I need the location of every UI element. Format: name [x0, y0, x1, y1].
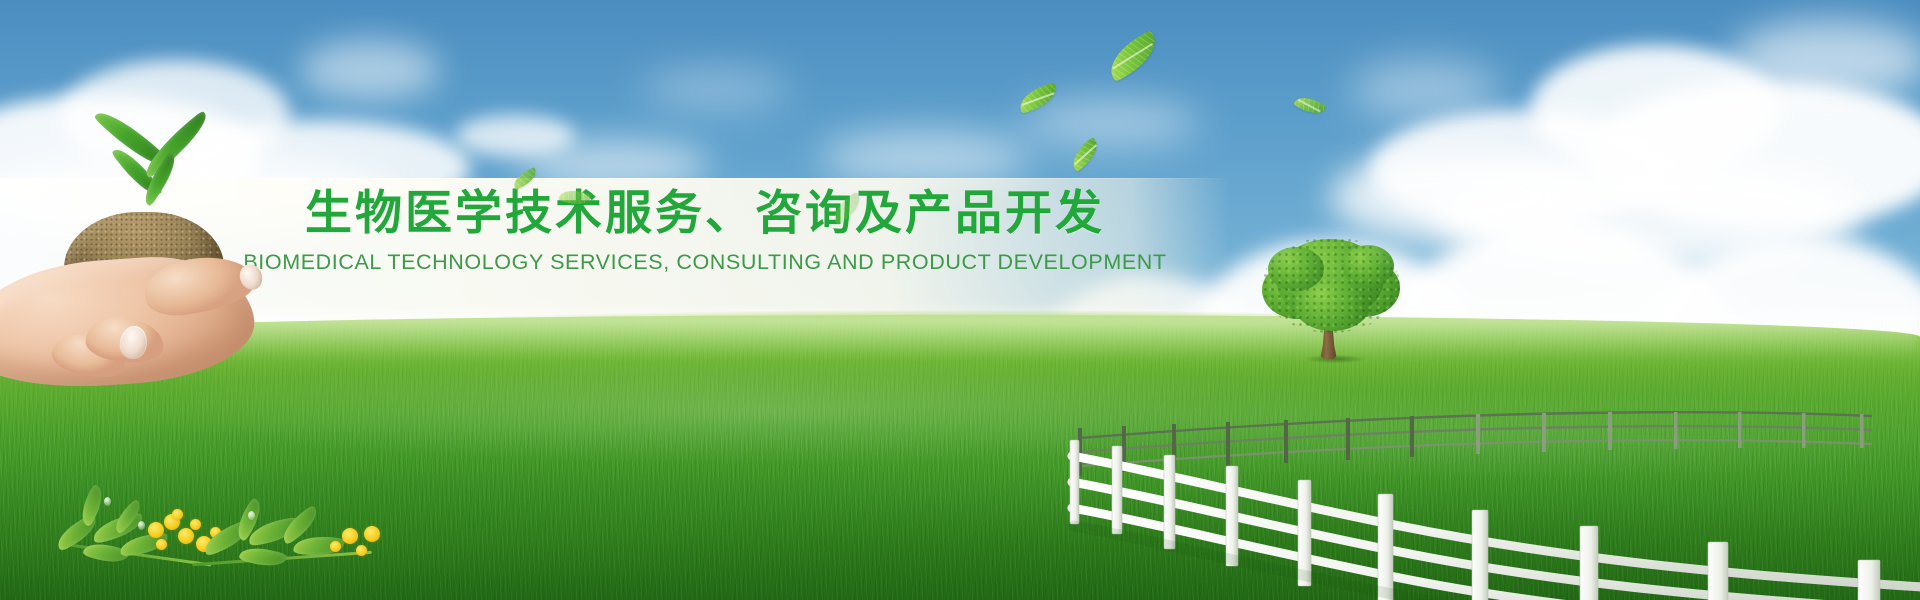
fence-icon [1060, 330, 1920, 600]
flower-icon [342, 528, 358, 544]
dew-drop [248, 511, 255, 520]
flower-icon [172, 509, 183, 520]
flower-icon [330, 541, 341, 552]
flower-icon [190, 519, 201, 530]
dew-drop [138, 521, 145, 530]
fence-far-segment [1078, 412, 1872, 476]
flower-icon [364, 526, 380, 542]
leaf-icon [238, 542, 287, 572]
hero-banner: 生物医学技术服务、咨询及产品开发 BIOMEDICAL TECHNOLOGY S… [0, 0, 1920, 600]
hand-sprout-icon [0, 150, 294, 390]
tree-canopy-texture [1262, 237, 1400, 333]
flower-icon [356, 545, 367, 556]
fence-near-segment [1070, 440, 1920, 600]
flower-icon [148, 522, 164, 538]
flower-icon [178, 528, 194, 544]
dew-drop [104, 497, 111, 506]
page-title: 生物医学技术服务、咨询及产品开发 [180, 186, 1230, 241]
page-subtitle: BIOMEDICAL TECHNOLOGY SERVICES, CONSULTI… [180, 250, 1230, 275]
flower-bush [52, 480, 382, 600]
flower-icon [156, 539, 167, 550]
